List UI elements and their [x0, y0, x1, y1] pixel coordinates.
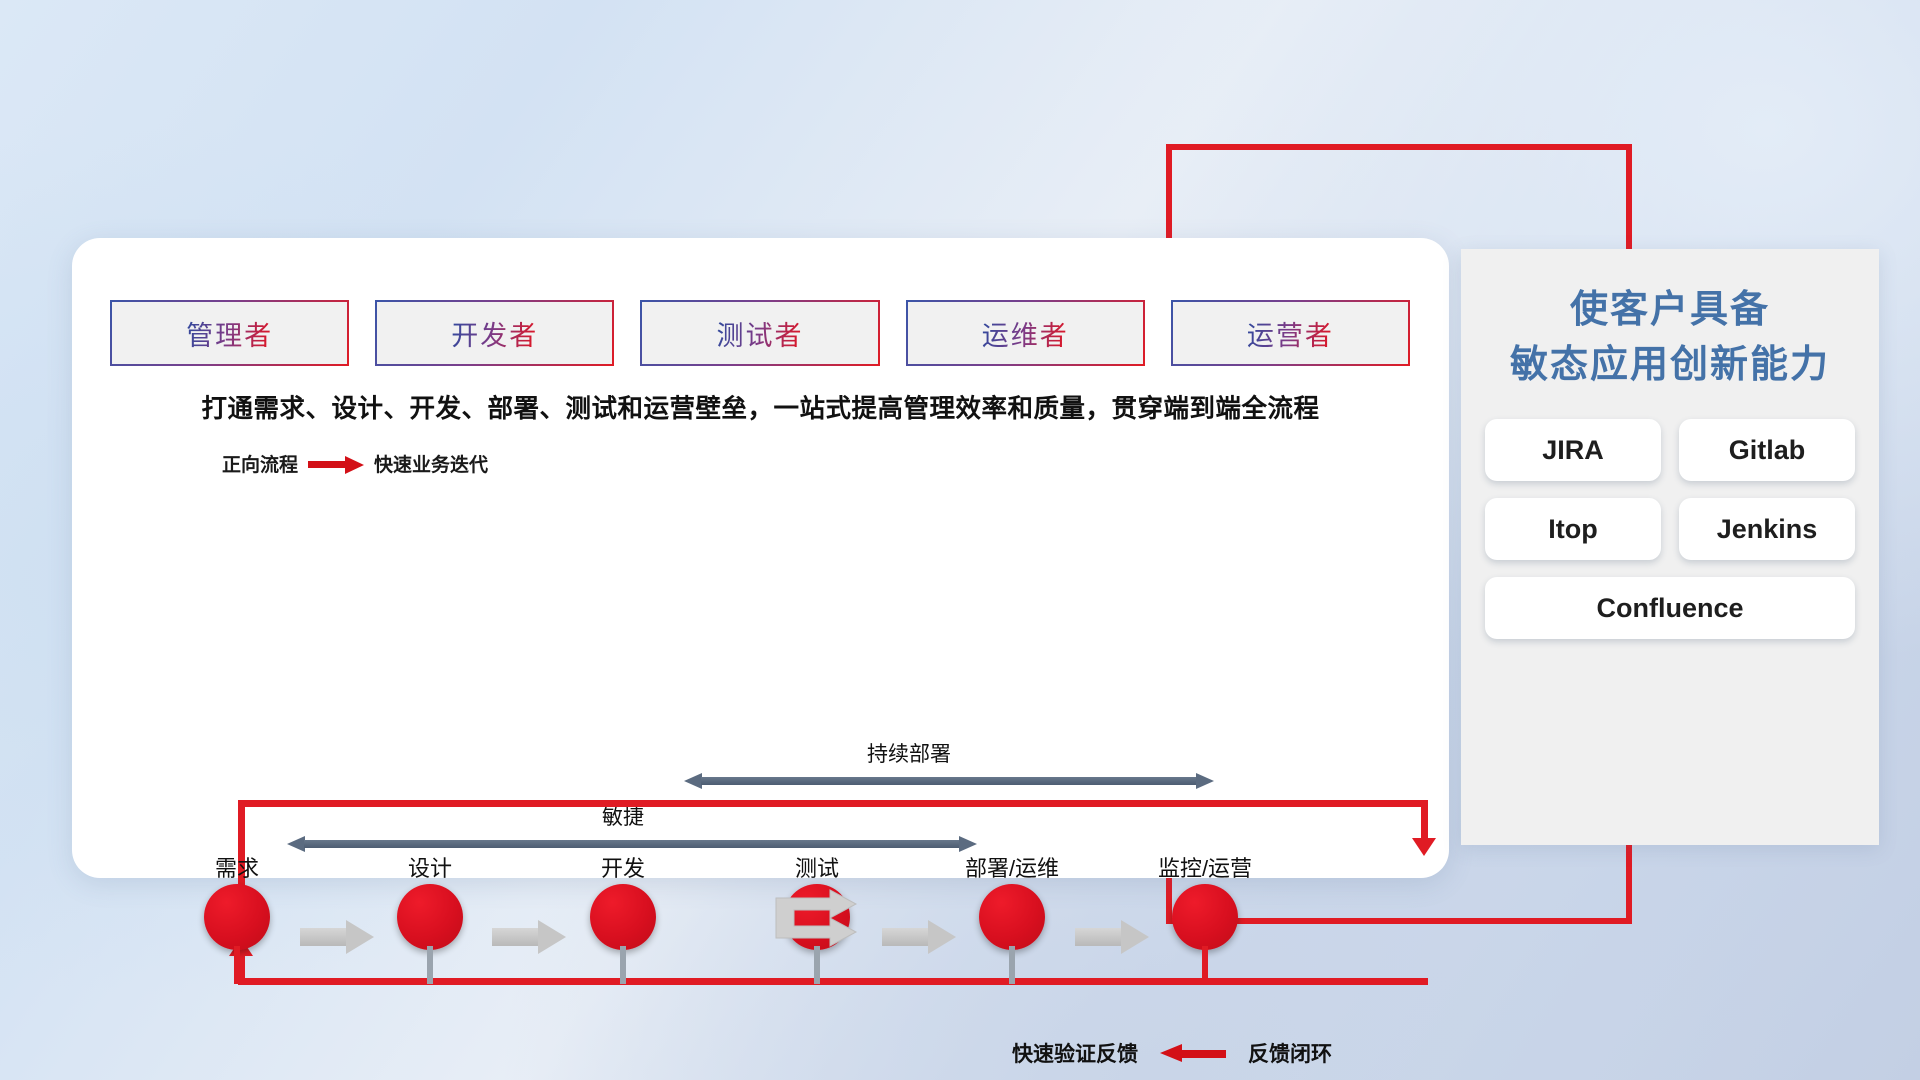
role-label: 管理者 [186, 314, 273, 353]
stage-deploy-ops[interactable]: 部署/运维 [947, 858, 1077, 950]
loop-back-icon [772, 886, 864, 952]
arrow-shaft [304, 840, 960, 848]
capability-panel: 使客户具备 敏态应用创新能力 JIRA Gitlab Itop Jenkins … [1461, 249, 1879, 845]
stage-label: 监控/运营 [1140, 858, 1270, 880]
tool-chip-gitlab[interactable]: Gitlab [1679, 419, 1855, 481]
role-box-developer[interactable]: 开发者 [375, 300, 614, 366]
stage-label: 开发 [558, 858, 688, 880]
stage-requirements[interactable]: 需求 [172, 858, 302, 950]
tool-chip-confluence[interactable]: Confluence [1485, 577, 1855, 639]
role-box-tester[interactable]: 测试者 [640, 300, 879, 366]
role-label: 运营者 [1247, 314, 1334, 353]
forward-flow-right-label: 快速业务迭代 [374, 450, 488, 477]
agile-arrow [287, 836, 977, 852]
arrow-head-left-icon [684, 773, 702, 789]
stage-stem [620, 946, 626, 984]
feedback-loop-top-line [238, 800, 1428, 807]
right-arrow-icon [308, 456, 364, 472]
role-box-ops[interactable]: 运维者 [906, 300, 1145, 366]
stage-label: 测试 [752, 858, 882, 880]
role-label: 测试者 [717, 314, 804, 353]
feedback-loop-legend: 快速验证反馈 反馈闭环 [1012, 1038, 1332, 1068]
role-boxes-row: 管理者 开发者 测试者 运维者 运营者 [110, 300, 1410, 366]
stage-stem [234, 946, 240, 984]
tool-chip-jira[interactable]: JIRA [1485, 419, 1661, 481]
devops-flow-card: 管理者 开发者 测试者 运维者 运营者 打通需求、设计、开发、部署、测试和运营壁… [72, 238, 1449, 878]
stage-dot-icon [1172, 884, 1238, 950]
continuous-deployment-arrow [684, 773, 1214, 789]
panel-heading-line-2: 敏态应用创新能力 [1485, 338, 1855, 393]
role-box-manager[interactable]: 管理者 [110, 300, 349, 366]
arrow-head-right-icon [1196, 773, 1214, 789]
stage-label: 设计 [365, 858, 495, 880]
role-box-operations[interactable]: 运营者 [1171, 300, 1410, 366]
stage-dot-icon [204, 884, 270, 950]
down-arrow-icon [1412, 838, 1436, 856]
feedback-left-label: 快速验证反馈 [1012, 1038, 1138, 1068]
stage-stem [1009, 946, 1015, 984]
stage-label: 部署/运维 [947, 858, 1077, 880]
description-text: 打通需求、设计、开发、部署、测试和运营壁垒，一站式提高管理效率和质量，贯穿端到端… [72, 388, 1449, 425]
panel-heading-line-1: 使客户具备 [1485, 283, 1855, 338]
tool-chip-grid: JIRA Gitlab Itop Jenkins Confluence [1485, 419, 1855, 639]
chevron-right-icon [492, 920, 566, 954]
stage-dot-icon [397, 884, 463, 950]
role-label: 运维者 [982, 314, 1069, 353]
left-arrow-icon [1160, 1044, 1226, 1062]
tool-chip-itop[interactable]: Itop [1485, 498, 1661, 560]
stage-stem [427, 946, 433, 984]
stage-label: 需求 [172, 858, 302, 880]
arrow-head-left-icon [287, 836, 305, 852]
arrow-shaft [701, 777, 1197, 785]
stage-monitor-operations[interactable]: 监控/运营 [1140, 858, 1270, 950]
tool-chip-jenkins[interactable]: Jenkins [1679, 498, 1855, 560]
chevron-right-icon [882, 920, 956, 954]
chevron-right-icon [1075, 920, 1149, 954]
role-label: 开发者 [451, 314, 538, 353]
chevron-right-icon [300, 920, 374, 954]
continuous-deployment-label: 持续部署 [867, 738, 951, 768]
forward-flow-left-label: 正向流程 [222, 450, 298, 477]
forward-flow-legend: 正向流程 快速业务迭代 [222, 450, 488, 477]
feedback-right-label: 反馈闭环 [1248, 1038, 1332, 1068]
stage-development[interactable]: 开发 [558, 858, 688, 950]
stage-dot-icon [979, 884, 1045, 950]
stage-dot-icon [590, 884, 656, 950]
stage-design[interactable]: 设计 [365, 858, 495, 950]
arrow-head-right-icon [959, 836, 977, 852]
stage-stem [1202, 946, 1208, 984]
